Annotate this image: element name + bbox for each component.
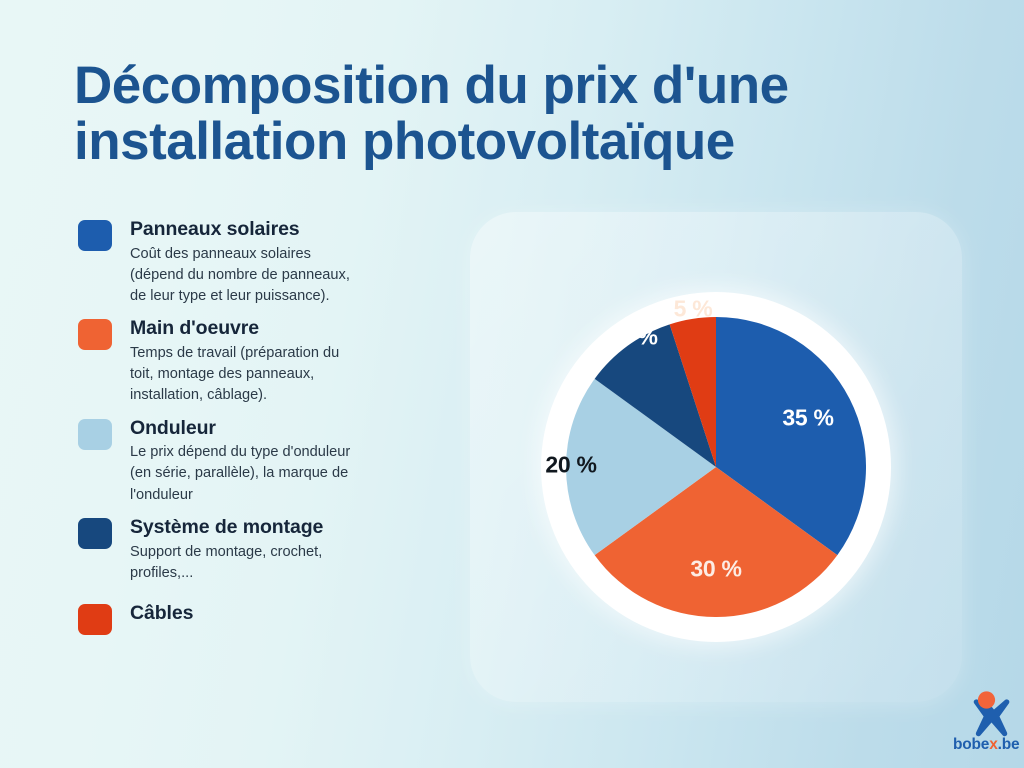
logo-text-part1: bobe <box>953 736 989 753</box>
legend-swatch-cables <box>78 604 112 635</box>
legend-item-description: Support de montage, crochet, profiles,..… <box>130 542 430 584</box>
legend-item-label: Panneaux solaires <box>130 218 430 242</box>
legend-item-description: Le prix dépend du type d'onduleur (en sé… <box>130 442 430 505</box>
legend-item-main-doeuvre[interactable]: Main d'oeuvre Temps de travail (préparat… <box>78 317 430 406</box>
legend-item-label: Câbles <box>130 602 430 626</box>
page-title: Décomposition du prix d'une installation… <box>74 58 954 170</box>
legend-item-cables[interactable]: Câbles <box>78 602 430 626</box>
pie-slice-label-5: 5 % <box>674 296 713 323</box>
pie-slice-label-4: 10 % <box>606 324 657 351</box>
bobex-logo-text: bobex.be <box>953 736 1019 754</box>
bobex-figure-icon <box>959 688 1013 738</box>
legend-swatch-onduleur <box>78 419 112 450</box>
pie-slice-label-1: 35 % <box>782 405 833 432</box>
legend-item-description: Temps de travail (préparation du toit, m… <box>130 343 430 406</box>
legend-item-label: Main d'oeuvre <box>130 317 430 341</box>
legend-swatch-main-doeuvre <box>78 319 112 350</box>
legend-item-onduleur[interactable]: Onduleur Le prix dépend du type d'ondule… <box>78 417 430 506</box>
legend-item-systeme-de-montage[interactable]: Système de montage Support de montage, c… <box>78 516 430 584</box>
legend-swatch-panneaux-solaires <box>78 220 112 251</box>
pie-slice-label-3: 20 % <box>545 452 596 479</box>
legend-item-label: Système de montage <box>130 516 430 540</box>
legend: Panneaux solaires Coût des panneaux sola… <box>78 218 430 630</box>
bobex-logo[interactable]: bobex.be <box>953 688 1019 760</box>
legend-item-panneaux-solaires[interactable]: Panneaux solaires Coût des panneaux sola… <box>78 218 430 307</box>
pie-slice-label-2: 30 % <box>690 556 741 583</box>
logo-text-x: x <box>989 736 997 753</box>
legend-item-label: Onduleur <box>130 417 430 441</box>
legend-item-description: Coût des panneaux solaires (dépend du no… <box>130 244 430 307</box>
logo-text-domain: .be <box>998 736 1020 753</box>
legend-swatch-systeme-de-montage <box>78 518 112 549</box>
